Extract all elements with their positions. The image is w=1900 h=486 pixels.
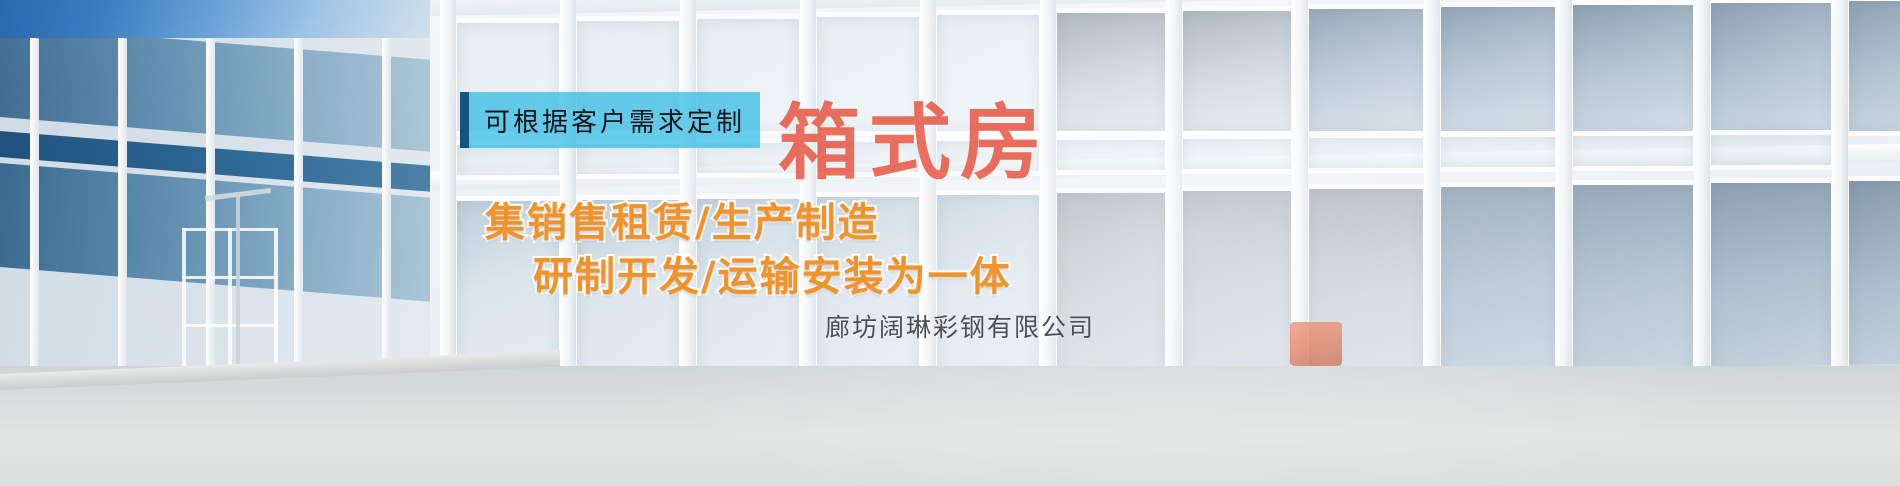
page-title: 箱式房 [778,76,1051,195]
banner-text-overlay: 可根据客户需求定制 箱式房 集销售租赁/生产制造 研制开发/运输安装为一体 廊坊… [0,0,1900,486]
slogan-line-2: 研制开发/运输安装为一体 [533,244,1012,302]
custom-order-tag: 可根据客户需求定制 [460,92,760,148]
company-name: 廊坊阔琳彩钢有限公司 [825,308,1095,344]
promo-banner: 可根据客户需求定制 箱式房 集销售租赁/生产制造 研制开发/运输安装为一体 廊坊… [0,0,1900,486]
slogan-line-1: 集销售租赁/生产制造 [485,190,880,248]
custom-order-tag-label: 可根据客户需求定制 [484,102,745,139]
